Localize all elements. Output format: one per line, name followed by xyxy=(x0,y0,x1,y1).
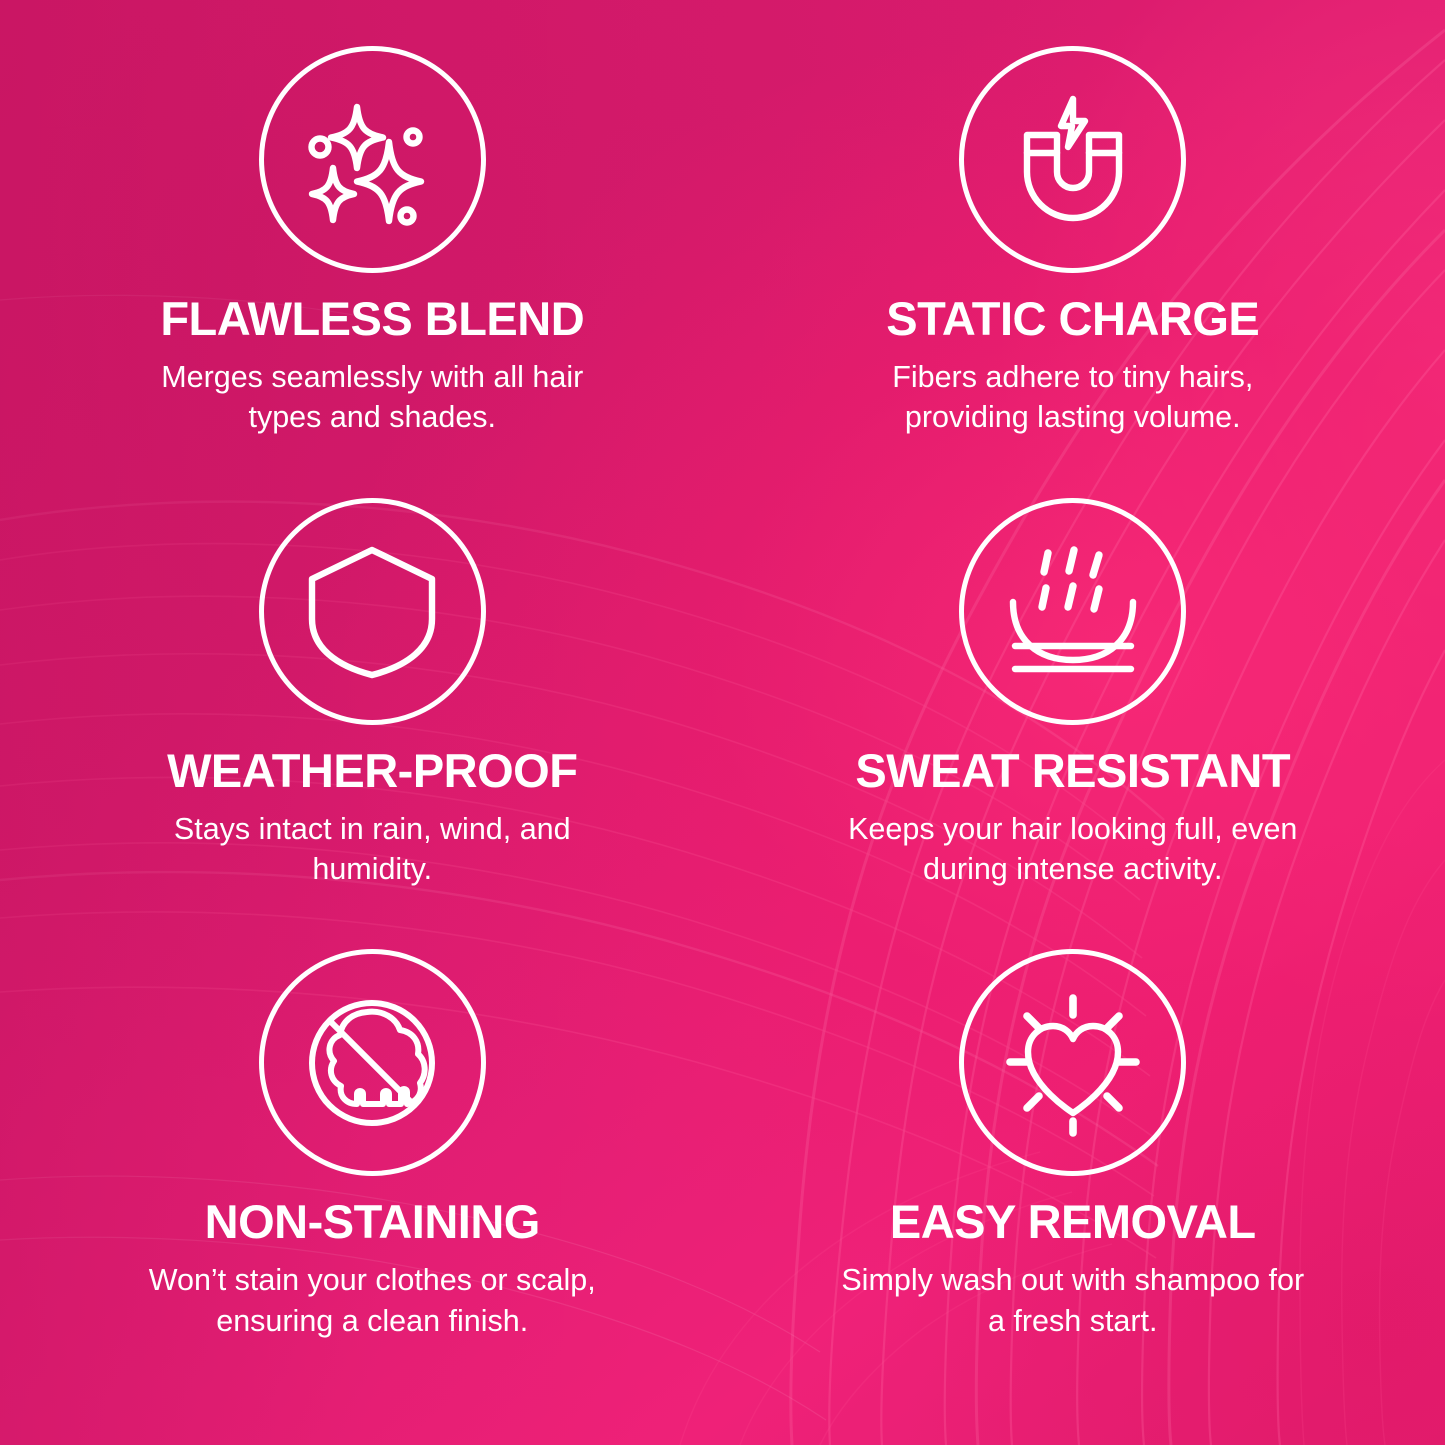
feature-title: STATIC CHARGE xyxy=(886,295,1259,344)
feature-title: EASY REMOVAL xyxy=(890,1198,1256,1247)
feature-card-non-staining: NON-STAINING Won’t stain your clothes or… xyxy=(22,949,723,1401)
feature-description: Stays intact in rain, wind, and humidity… xyxy=(137,809,607,890)
feature-description: Merges seamlessly with all hair types an… xyxy=(137,357,607,438)
water-repellent-icon xyxy=(959,498,1186,725)
heart-shine-icon xyxy=(959,949,1186,1176)
feature-grid-infographic: FLAWLESS BLEND Merges seamlessly with al… xyxy=(0,0,1445,1445)
no-stain-icon xyxy=(259,949,486,1176)
feature-description: Simply wash out with shampoo for a fresh… xyxy=(838,1260,1308,1341)
feature-card-weather-proof: WEATHER-PROOF Stays intact in rain, wind… xyxy=(22,498,723,950)
features-grid: FLAWLESS BLEND Merges seamlessly with al… xyxy=(0,0,1445,1445)
feature-title: SWEAT RESISTANT xyxy=(855,747,1290,796)
feature-title: NON-STAINING xyxy=(205,1198,540,1247)
feature-card-sweat-resistant: SWEAT RESISTANT Keeps your hair looking … xyxy=(723,498,1424,950)
feature-card-static-charge: STATIC CHARGE Fibers adhere to tiny hair… xyxy=(723,46,1424,498)
feature-card-easy-removal: EASY REMOVAL Simply wash out with shampo… xyxy=(723,949,1424,1401)
feature-description: Won’t stain your clothes or scalp, ensur… xyxy=(137,1260,607,1341)
feature-description: Fibers adhere to tiny hairs, providing l… xyxy=(838,357,1308,438)
feature-title: WEATHER-PROOF xyxy=(167,747,577,796)
sparkles-icon xyxy=(259,46,486,273)
magnet-static-icon xyxy=(959,46,1186,273)
feature-title: FLAWLESS BLEND xyxy=(160,295,584,344)
feature-description: Keeps your hair looking full, even durin… xyxy=(838,809,1308,890)
shield-icon xyxy=(259,498,486,725)
feature-card-flawless-blend: FLAWLESS BLEND Merges seamlessly with al… xyxy=(22,46,723,498)
